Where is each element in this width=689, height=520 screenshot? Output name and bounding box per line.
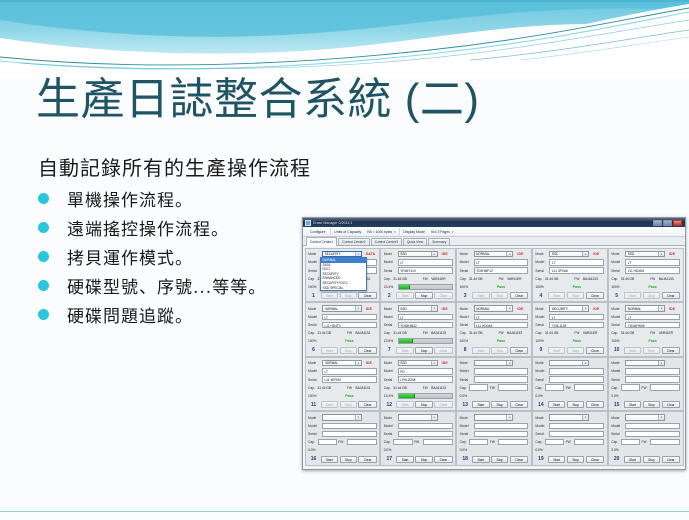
stop-button: Stop (491, 347, 508, 354)
mode-label: Mode (460, 361, 472, 365)
port-number: 10 (611, 347, 622, 353)
chevron-down-icon[interactable]: ▾ (582, 361, 588, 366)
progress-percent: 0.0% (308, 448, 320, 452)
start-button: Start (548, 292, 566, 299)
progress-percent: 100% (535, 339, 547, 343)
capacity-label: Cap. (535, 386, 543, 390)
firmware-label: FW (642, 440, 649, 444)
firmware-label: FW (347, 331, 354, 335)
model-label: Model (460, 315, 472, 319)
progress-percent: 100% (308, 394, 320, 398)
model-label: Model (384, 260, 396, 264)
mode-dropdown[interactable]: SECURITY▾ (549, 305, 589, 312)
capacity-value (393, 439, 412, 445)
model-value (322, 423, 377, 429)
chevron-down-icon[interactable]: ▾ (355, 415, 361, 420)
model-value: LT (549, 259, 604, 265)
app-logo-icon (305, 220, 311, 226)
start-button[interactable]: Start (624, 401, 642, 408)
mode-label: Mode (308, 252, 320, 256)
clear-button[interactable]: Clear (358, 401, 376, 408)
progress-placeholder (398, 447, 453, 453)
mode-value: NORMAL (325, 307, 339, 311)
mode-label: Mode (535, 416, 547, 420)
chevron-down-icon[interactable]: ▾ (355, 252, 361, 257)
clear-button[interactable]: Clear (662, 347, 680, 354)
stop-button: Stop (340, 347, 357, 354)
close-icon[interactable] (673, 220, 682, 226)
progress-placeholder (474, 393, 529, 399)
capacity-label: Cap. (535, 331, 543, 335)
mode-label: Mode (611, 416, 623, 420)
capacity-label: Cap. (384, 331, 392, 335)
port-cell: ModeNORMAL▾IDEModelLTSerialL11 HD0A6Cap.… (456, 302, 532, 357)
stop-button[interactable]: Stop (567, 456, 584, 463)
port-cell: ModeSECURITY▾IDEModelLTSerialY03L11JBCap… (532, 302, 608, 357)
model-label: Model (384, 369, 396, 373)
status-badge: Pass (549, 285, 604, 289)
mode-dropdown[interactable]: NORMAL▾ (625, 305, 665, 312)
progress-percent: 0.0% (611, 448, 623, 452)
model-label: Model (535, 315, 547, 319)
interface-badge: IDE (515, 252, 528, 256)
menu-label-units-of-capacity: Units of Capacity (330, 230, 365, 234)
progress-percent: 100% (535, 285, 547, 289)
serial-value: YD3HMF12 (474, 267, 529, 273)
progress-percent: 100% (611, 285, 623, 289)
mode-dropdown[interactable]: ▾ (549, 414, 589, 421)
start-button: Start (472, 292, 490, 299)
serial-label: Serial (611, 323, 623, 327)
mode-label: Mode (460, 252, 472, 256)
mode-dropdown[interactable]: NORMAL▾ (474, 305, 514, 312)
port-cell: Mode▾ModelSerialCap.FW0.0%15StartStopCle… (608, 357, 684, 412)
chevron-down-icon[interactable]: ▾ (450, 230, 457, 234)
mode-value: SSD (400, 252, 407, 256)
serial-label: Serial (384, 323, 396, 327)
firmware-value (347, 439, 377, 445)
erase-manager-window-screenshot: Erase Manager 0/2014.1 Configure Units o… (302, 217, 686, 470)
port-number: 19 (535, 456, 546, 462)
model-label: Model (535, 424, 547, 428)
interface-badge: IDE (364, 307, 377, 311)
interface-badge: IDE (364, 361, 377, 365)
tab-quick-view[interactable]: Quick View (403, 238, 427, 246)
capacity-value (545, 439, 564, 445)
mode-dropdown[interactable]: NORMAL▾ (474, 251, 514, 258)
clear-button[interactable]: Clear (358, 456, 376, 463)
capacity-value: 31.44 GB (469, 277, 497, 281)
model-label: Model (384, 424, 396, 428)
serial-label: Serial (308, 269, 320, 273)
dropdown-option[interactable]: SSD SPECIAL (321, 286, 366, 291)
port-number: 20 (611, 456, 622, 462)
mode-dropdown[interactable]: NORMAL▾ (322, 360, 362, 367)
capacity-label: Cap. (535, 440, 543, 444)
model-label: Model (460, 260, 472, 264)
clear-button[interactable]: Clear (586, 456, 604, 463)
start-button: Start (396, 292, 414, 299)
stop-button[interactable]: Stop (491, 401, 508, 408)
serial-label: Serial (308, 432, 320, 436)
app-titlebar: Erase Manager 0/2014.1 (303, 218, 685, 227)
presentation-slide: 生產日誌整合系統 (二) 自動記錄所有的生產操作流程 單機操作流程。 遠端搖控操… (0, 0, 689, 520)
mode-dropdown[interactable]: SSD▾ (549, 251, 589, 258)
capacity-value: 31.44 GB (545, 277, 573, 281)
start-button[interactable]: Start (548, 401, 566, 408)
clear-button[interactable]: Clear (358, 347, 376, 354)
capacity-value: 31.44 GB (393, 386, 421, 390)
port-number: 11 (308, 402, 319, 408)
port-number: 18 (460, 456, 471, 462)
serial-value (322, 431, 377, 437)
serial-label: Serial (308, 323, 320, 327)
capacity-label: Cap. (460, 277, 468, 281)
model-value (474, 368, 529, 374)
serial-label: Serial (611, 432, 623, 436)
port-cell: Mode▾ModelSerialCap.FW0.0%16StartStopCle… (305, 411, 381, 466)
port-cell: ModeNORMAL▾IDEModelLTSerialYD3HMF12Cap.3… (456, 248, 532, 303)
capacity-label: Cap. (460, 331, 468, 335)
firmware-label: FW (423, 331, 430, 335)
interface-badge: IDE (440, 252, 453, 256)
firmware-value: VAR41ER (659, 331, 673, 335)
mode-dropdown[interactable]: ▾ (625, 414, 665, 421)
serial-label: Serial (384, 269, 396, 273)
mode-dropdown[interactable]: ▾ (549, 360, 589, 367)
serial-value: L11 HD4T0 (322, 322, 377, 328)
stop-button[interactable]: Stop (415, 292, 432, 299)
firmware-value: VAR41ER (507, 277, 521, 281)
capacity-label: Cap. (611, 440, 619, 444)
model-value: PD (398, 368, 453, 374)
stop-button[interactable]: Stop (491, 456, 508, 463)
capacity-value (545, 384, 564, 390)
mode-dropdown-options[interactable]: NORMALSATADCOSECURITYENHANCEDSECURITY+DC… (320, 257, 367, 291)
start-button[interactable]: Start (321, 456, 339, 463)
model-label: Model (611, 315, 623, 319)
clear-button[interactable]: Clear (510, 347, 528, 354)
mode-dropdown[interactable]: ▾ (398, 414, 438, 421)
wave-header-graphic (0, 0, 689, 78)
model-value: LT (398, 314, 453, 320)
clear-button[interactable]: Clear (586, 292, 604, 299)
port-number: 2 (384, 293, 395, 299)
stop-button: Stop (340, 401, 357, 408)
clear-button[interactable]: Clear (510, 292, 528, 299)
clear-button[interactable]: Clear (662, 456, 680, 463)
start-button: Start (396, 401, 414, 408)
chevron-down-icon[interactable]: ▾ (506, 306, 512, 311)
firmware-label: FW (574, 277, 581, 281)
start-button[interactable]: Start (472, 456, 490, 463)
firmware-label: FW (490, 386, 497, 390)
capacity-label: Cap. (611, 331, 619, 335)
model-value: LT (398, 259, 453, 265)
firmware-value: BAJA1131 (356, 386, 371, 390)
port-cell: ModeSECURITY▾SATAModelLTSerialSECURITYCa… (305, 248, 381, 303)
chevron-down-icon[interactable]: ▾ (355, 361, 361, 366)
serial-value (549, 431, 604, 437)
progress-placeholder (625, 447, 680, 453)
capacity-label: Cap. (308, 440, 316, 444)
stop-button[interactable]: Stop (643, 456, 660, 463)
status-badge: Pass (322, 339, 377, 343)
tab-control-center2[interactable]: Control Center2 (338, 238, 369, 246)
clear-button[interactable]: Clear (510, 401, 528, 408)
firmware-label: FW (338, 440, 345, 444)
list-item: 遠端搖控操作流程。 (38, 213, 266, 242)
serial-label: Serial (611, 378, 623, 382)
clear-button[interactable]: Clear (510, 456, 528, 463)
chevron-down-icon[interactable]: ▾ (431, 306, 437, 311)
progress-percent: 100% (308, 285, 320, 289)
chevron-down-icon[interactable]: ▾ (431, 415, 437, 420)
firmware-label: FW (566, 440, 573, 444)
port-grid: ModeSECURITY▾SATAModelLTSerialSECURITYCa… (305, 248, 684, 466)
start-button: Start (321, 401, 339, 408)
stop-button[interactable]: Stop (643, 401, 660, 408)
firmware-value (423, 439, 453, 445)
mode-dropdown[interactable]: ▾ (474, 414, 514, 421)
progress-bar (398, 338, 453, 344)
stop-button[interactable]: Stop (415, 401, 432, 408)
capacity-label: Cap. (384, 386, 392, 390)
model-value (625, 423, 680, 429)
mode-value: SECURITY (325, 252, 341, 256)
firmware-label: FW (347, 386, 354, 390)
firmware-label: FW (574, 331, 581, 335)
stop-button[interactable]: Stop (415, 347, 432, 354)
stop-button[interactable]: Stop (415, 456, 432, 463)
menu-item-configure[interactable]: Configure (306, 230, 330, 234)
firmware-value: BAJA1131 (431, 386, 446, 390)
capacity-value: 31.44 GB (621, 277, 649, 281)
chevron-down-icon[interactable]: ▾ (582, 252, 588, 257)
progress-percent: 100% (308, 339, 320, 343)
serial-value: L11 HD0A6 (474, 322, 529, 328)
firmware-value: BAJA1131 (356, 331, 371, 335)
port-cell: ModeSSD▾IDEModelLTSerialYD63HM42Cap.31.4… (380, 302, 456, 357)
serial-value: Y03L11JB (549, 322, 604, 328)
clear-button[interactable]: Clear (586, 401, 604, 408)
tab-summary[interactable]: Summary (428, 238, 450, 246)
serial-value: L11 HD4D6 (625, 267, 680, 273)
menu-label-display-mode: Display Mode (399, 230, 429, 234)
mode-label: Mode (308, 307, 320, 311)
mode-dropdown[interactable]: SSD▾ (398, 360, 438, 367)
progress-percent: 0.0% (460, 394, 472, 398)
port-number: 6 (308, 347, 319, 353)
serial-value (474, 376, 529, 382)
mode-value: SSD (400, 361, 407, 365)
capacity-value: 31.44 GB (469, 331, 497, 335)
model-value: LT (322, 314, 377, 320)
mode-value: NORMAL (628, 307, 642, 311)
progress-placeholder (322, 447, 377, 453)
mode-value: NORMAL (476, 307, 490, 311)
model-value (549, 423, 604, 429)
chevron-down-icon[interactable]: ▾ (658, 306, 664, 311)
mode-dropdown[interactable]: NORMAL▾ (322, 305, 362, 312)
model-label: Model (308, 424, 320, 428)
port-number: 13 (460, 402, 471, 408)
status-badge: Pass (474, 285, 529, 289)
menu-value-display-mode[interactable]: 5x4 3 Pages (429, 230, 450, 234)
bullet-dot-icon (38, 193, 49, 204)
capacity-label: Cap. (384, 440, 392, 444)
firmware-value (498, 384, 528, 390)
start-button[interactable]: Start (624, 456, 642, 463)
serial-label: Serial (460, 269, 472, 273)
start-button[interactable]: Start (548, 456, 566, 463)
serial-value (398, 431, 453, 437)
progress-placeholder (625, 393, 680, 399)
chevron-down-icon[interactable]: ▾ (355, 306, 361, 311)
status-badge: Pass (322, 394, 377, 398)
mode-label: Mode (384, 361, 396, 365)
mode-label: Mode (384, 307, 396, 311)
mode-dropdown[interactable]: ▾ (322, 414, 362, 421)
interface-badge: IDE (440, 361, 453, 365)
mode-dropdown[interactable]: SSD▾ (398, 305, 438, 312)
capacity-value: 31.44 GB (393, 331, 421, 335)
chevron-down-icon[interactable]: ▾ (582, 306, 588, 311)
tab-control-center3[interactable]: Control Center3 (371, 238, 402, 246)
model-label: Model (308, 369, 320, 373)
body-lead-text: 自動記錄所有的生產操作流程 (38, 152, 311, 181)
control-center-panel: ModeSECURITY▾SATAModelLTSerialSECURITYCa… (303, 246, 685, 470)
serial-value (474, 431, 529, 437)
chevron-down-icon[interactable]: ▾ (506, 361, 512, 366)
chevron-down-icon[interactable]: ▾ (431, 361, 437, 366)
clear-button[interactable]: Clear (586, 347, 604, 354)
firmware-value (574, 384, 604, 390)
start-button: Start (624, 292, 642, 299)
model-value: LT (474, 314, 529, 320)
menu-value-units-of-capacity[interactable]: KB = 1000 bytes (365, 230, 392, 234)
start-button[interactable]: Start (396, 456, 414, 463)
progress-percent: 0.0% (611, 394, 623, 398)
port-number: 5 (611, 293, 622, 299)
window-controls (653, 220, 683, 226)
capacity-value: 31.44 GB (393, 277, 421, 281)
firmware-label: FW (499, 331, 506, 335)
mode-label: Mode (384, 416, 396, 420)
status-badge: Pass (549, 339, 604, 343)
progress-percent: 13.5% (384, 339, 396, 343)
chevron-down-icon[interactable]: ▾ (658, 361, 664, 366)
port-number: 3 (460, 293, 471, 299)
clear-button[interactable]: Clear (434, 456, 452, 463)
model-label: Model (308, 315, 320, 319)
start-button: Start (396, 347, 414, 354)
capacity-label: Cap. (308, 277, 316, 281)
mode-label: Mode (535, 361, 547, 365)
model-label: Model (611, 369, 623, 373)
port-cell: ModeNORMAL▾IDEModelLTSerialL11 4EFM0Cap.… (305, 357, 381, 412)
clear-button[interactable]: Clear (662, 401, 680, 408)
serial-label: Serial (535, 269, 547, 273)
capacity-label: Cap. (535, 277, 543, 281)
start-button: Start (321, 292, 339, 299)
model-value: LT (625, 259, 680, 265)
port-cell: ModeSSD▾IDEModelLTSerialYR46Y410Cap.31.4… (380, 248, 456, 303)
capacity-value (621, 439, 640, 445)
model-label: Model (611, 424, 623, 428)
mode-label: Mode (460, 307, 472, 311)
start-button: Start (548, 347, 566, 354)
list-item: 拷貝運作模式。 (38, 242, 266, 271)
minimize-icon[interactable] (653, 220, 662, 226)
chevron-down-icon[interactable]: ▾ (431, 252, 437, 257)
start-button[interactable]: Start (472, 401, 490, 408)
progress-percent: 100% (460, 339, 472, 343)
mode-label: Mode (535, 307, 547, 311)
model-label: Model (460, 424, 472, 428)
port-number: 12 (384, 402, 395, 408)
capacity-label: Cap. (611, 386, 619, 390)
clear-button[interactable]: Clear (358, 292, 376, 299)
interface-badge: IDE (440, 307, 453, 311)
stop-button: Stop (340, 292, 357, 299)
clear-button[interactable]: Clear (662, 292, 680, 299)
firmware-label: FW (423, 277, 430, 281)
mode-dropdown[interactable]: SSD▾ (625, 251, 665, 258)
capacity-value: 31.44 GB (318, 386, 346, 390)
chevron-down-icon[interactable]: ▾ (658, 252, 664, 257)
port-number: 8 (460, 347, 471, 353)
clear-button: Clear (434, 401, 452, 408)
serial-label: Serial (460, 378, 472, 382)
tab-control-center1[interactable]: Control Center1 (306, 237, 337, 246)
serial-value: YD4AFW06 (625, 322, 680, 328)
app-title: Erase Manager 0/2014.1 (313, 221, 353, 225)
firmware-value: BAJA1133 (659, 277, 674, 281)
chevron-down-icon[interactable]: ▾ (658, 415, 664, 420)
chevron-down-icon[interactable]: ▾ (506, 252, 512, 257)
firmware-label: FW (414, 440, 421, 444)
firmware-label: FW (490, 440, 497, 444)
model-value (398, 423, 453, 429)
mode-dropdown[interactable]: SSD▾ (398, 251, 438, 258)
firmware-value: BAJA1133 (431, 331, 446, 335)
serial-value (625, 431, 680, 437)
mode-label: Mode (611, 361, 623, 365)
stop-button[interactable]: Stop (340, 456, 357, 463)
bullet-dot-icon (38, 280, 49, 291)
mode-label: Mode (611, 252, 623, 256)
serial-value (549, 376, 604, 382)
maximize-icon[interactable] (663, 220, 672, 226)
firmware-value: BAJA1133 (507, 331, 522, 335)
progress-percent: 0.0% (384, 448, 396, 452)
stop-button[interactable]: Stop (567, 401, 584, 408)
chevron-down-icon[interactable]: ▾ (582, 415, 588, 420)
mode-dropdown[interactable]: ▾ (474, 360, 514, 367)
serial-label: Serial (535, 432, 547, 436)
port-cell: Mode▾ModelSerialCap.FW0.0%13StartStopCle… (456, 357, 532, 412)
interface-badge: IDE (667, 252, 680, 256)
app-tabstrip: Control Center1Control Center2Control Ce… (303, 237, 685, 246)
mode-dropdown[interactable]: ▾ (625, 360, 665, 367)
bullet-dot-icon (38, 309, 49, 320)
chevron-down-icon[interactable]: ▾ (506, 415, 512, 420)
mode-value: NORMAL (476, 252, 490, 256)
model-value: LT (549, 314, 604, 320)
serial-label: Serial (384, 432, 396, 436)
status-badge: Pass (474, 339, 529, 343)
